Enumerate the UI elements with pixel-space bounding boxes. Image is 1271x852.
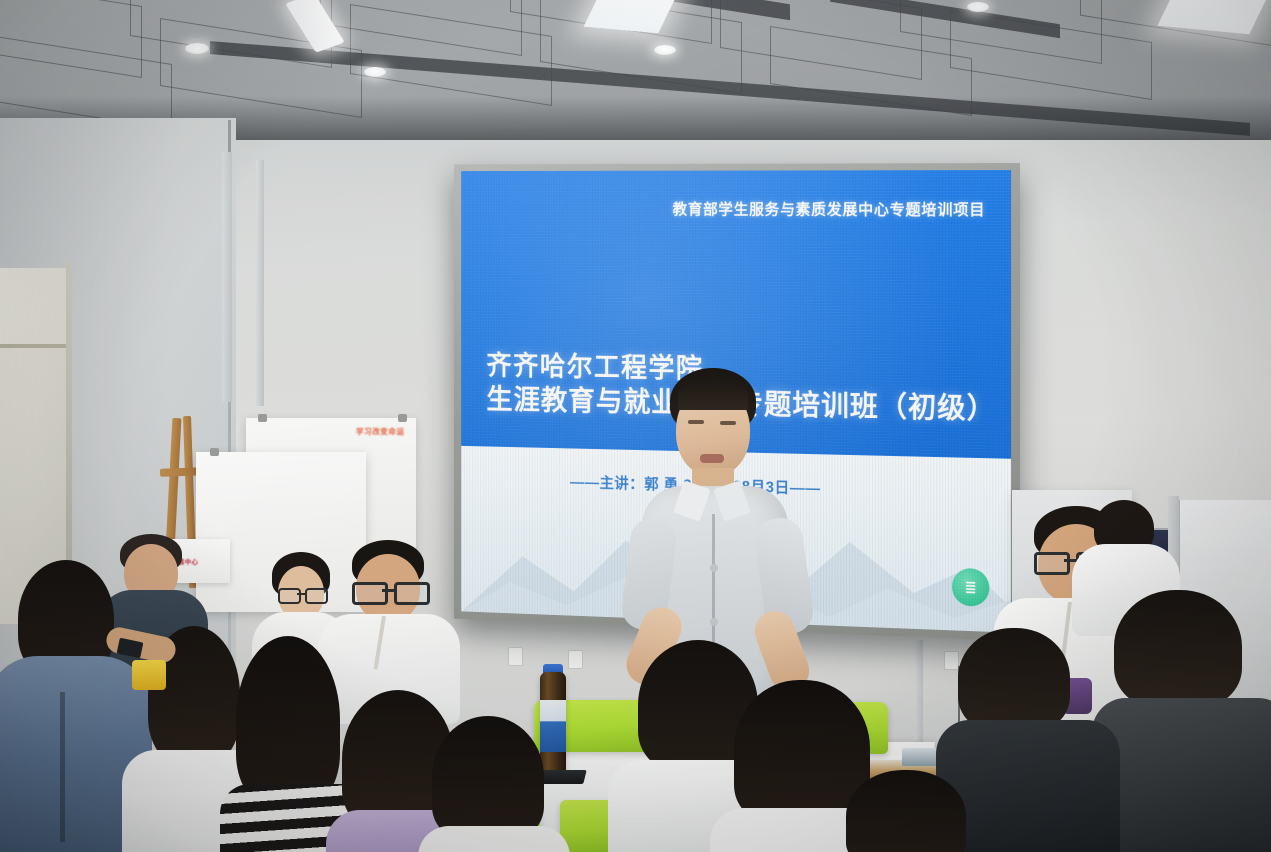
wall-post — [914, 640, 923, 758]
wall-outlet[interactable] — [568, 650, 583, 669]
glasses-icon — [352, 582, 424, 600]
flipchart-clip[interactable] — [210, 448, 219, 456]
flipchart-clip[interactable] — [258, 414, 267, 422]
door-transom — [0, 268, 66, 348]
yellow-item — [132, 660, 166, 690]
hair — [846, 770, 966, 852]
classroom-photo: 教育部学生服务与素质发展中心专题培训项目 齐齐哈尔工程学院 生涯教育与就业指导专… — [0, 0, 1271, 852]
audience-member — [1108, 590, 1271, 852]
wall-outlet[interactable] — [508, 647, 523, 666]
audience-member — [96, 540, 216, 690]
ceiling-downlight — [967, 2, 989, 12]
wall-pipe — [256, 160, 264, 406]
ceiling-downlight — [364, 67, 386, 77]
hair — [432, 716, 544, 838]
ceiling-downlight — [185, 43, 209, 54]
ceiling-downlight — [654, 45, 676, 55]
glasses-icon — [278, 588, 326, 601]
hair — [236, 636, 340, 804]
hair — [1114, 590, 1242, 708]
audience-member — [838, 770, 978, 852]
slide-header-text: 教育部学生服务与素质发展中心专题培训项目 — [673, 198, 986, 220]
flipchart-clip[interactable] — [398, 414, 407, 422]
hair — [958, 628, 1070, 732]
flipchart-red-text: 学习改变命运 — [356, 426, 405, 437]
green-circle-logo-icon: ≣ — [952, 568, 989, 607]
green-logo-mark: ≣ — [964, 580, 976, 595]
wall-pipe — [222, 152, 232, 402]
audience-member — [426, 716, 558, 852]
torso — [418, 826, 570, 852]
